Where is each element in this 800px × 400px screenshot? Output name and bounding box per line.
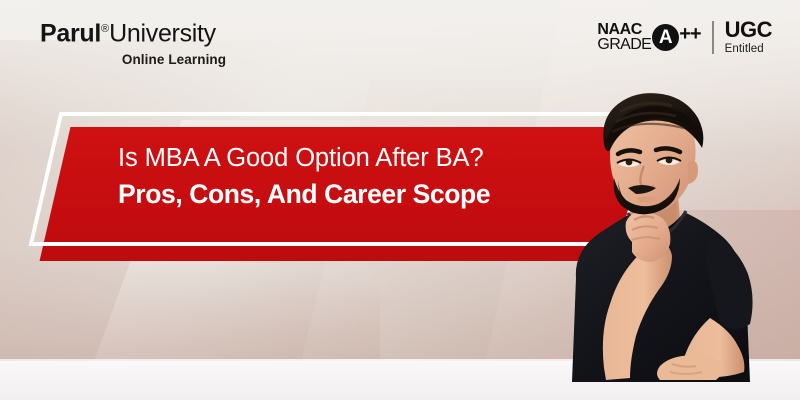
brand-name-primary: Parul bbox=[40, 19, 101, 47]
naac-badge: NAAC GRADE A ++ bbox=[597, 22, 700, 52]
brand-logo: Parul®University Online Learning bbox=[40, 16, 290, 67]
accreditation-badges: NAAC GRADE A ++ UGC Entitled bbox=[597, 19, 772, 56]
naac-label-top: NAAC bbox=[597, 22, 651, 37]
promotional-banner: Parul®University Online Learning NAAC GR… bbox=[0, 0, 800, 400]
ugc-sublabel: Entitled bbox=[725, 44, 772, 56]
brand-name-secondary: University bbox=[109, 19, 216, 47]
person-photo bbox=[560, 92, 800, 382]
naac-label-bottom: GRADE bbox=[597, 37, 651, 52]
ugc-badge: UGC Entitled bbox=[725, 19, 772, 56]
grade-plus-plus: ++ bbox=[679, 23, 700, 46]
brand-tagline: Online Learning bbox=[40, 52, 290, 67]
ugc-label: UGC bbox=[725, 19, 772, 41]
registered-trademark-icon: ® bbox=[101, 23, 109, 35]
naac-label: NAAC GRADE bbox=[597, 22, 651, 52]
brand-name: Parul®University bbox=[40, 16, 290, 47]
grade-letter-circle-icon: A bbox=[652, 24, 679, 51]
naac-grade-mark: A ++ bbox=[652, 24, 700, 51]
badge-divider bbox=[712, 21, 714, 54]
